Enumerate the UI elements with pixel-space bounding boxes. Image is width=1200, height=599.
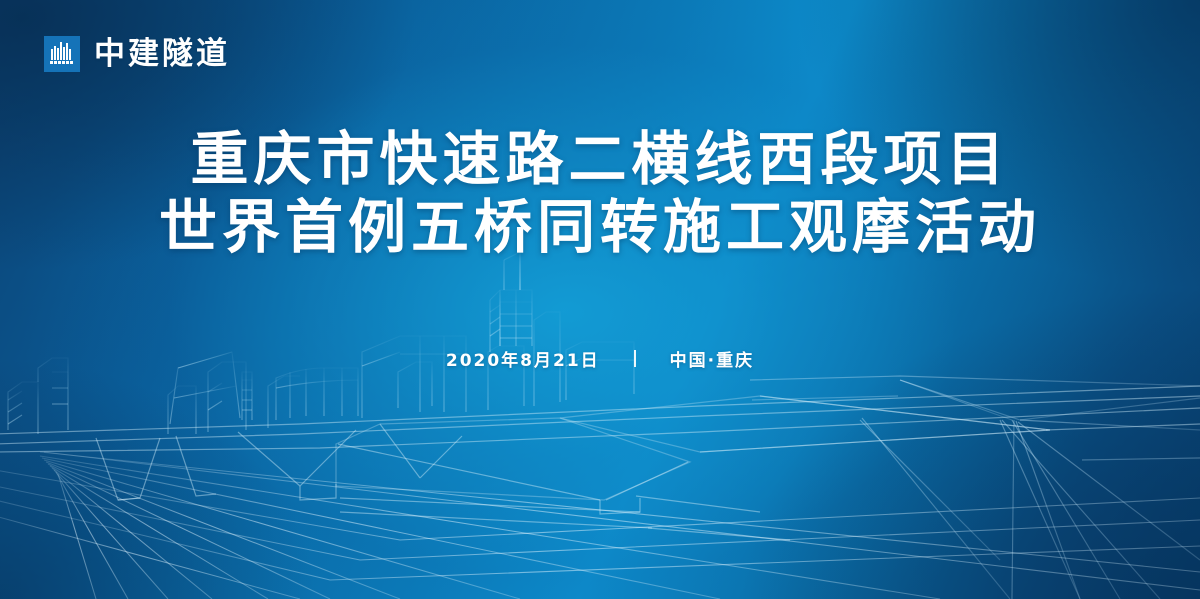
meta-divider: [634, 350, 636, 367]
right-angular-wireframe: [750, 376, 1200, 599]
poster-canvas: 中建隧道 重庆市快速路二横线西段项目 世界首例五桥同转施工观摩活动 2020年8…: [0, 0, 1200, 599]
title-line-1: 重庆市快速路二横线西段项目: [0, 126, 1200, 194]
title-line-2: 世界首例五桥同转施工观摩活动: [0, 194, 1200, 262]
cscec-logo-mark-icon: [44, 36, 80, 72]
city-skyline-wireframe: [8, 252, 634, 434]
background-wireframe-artwork: [0, 0, 1200, 599]
brand-logo-lockup: 中建隧道: [44, 36, 230, 72]
page-title: 重庆市快速路二横线西段项目 世界首例五桥同转施工观摩活动: [0, 126, 1200, 262]
company-name: 中建隧道: [94, 39, 230, 70]
event-location: 中国·重庆: [670, 346, 754, 371]
event-meta: 2020年8月21日 中国·重庆: [0, 346, 1200, 371]
event-date: 2020年8月21日: [446, 346, 600, 371]
bridge-viaduct-wireframe: [0, 386, 1200, 540]
